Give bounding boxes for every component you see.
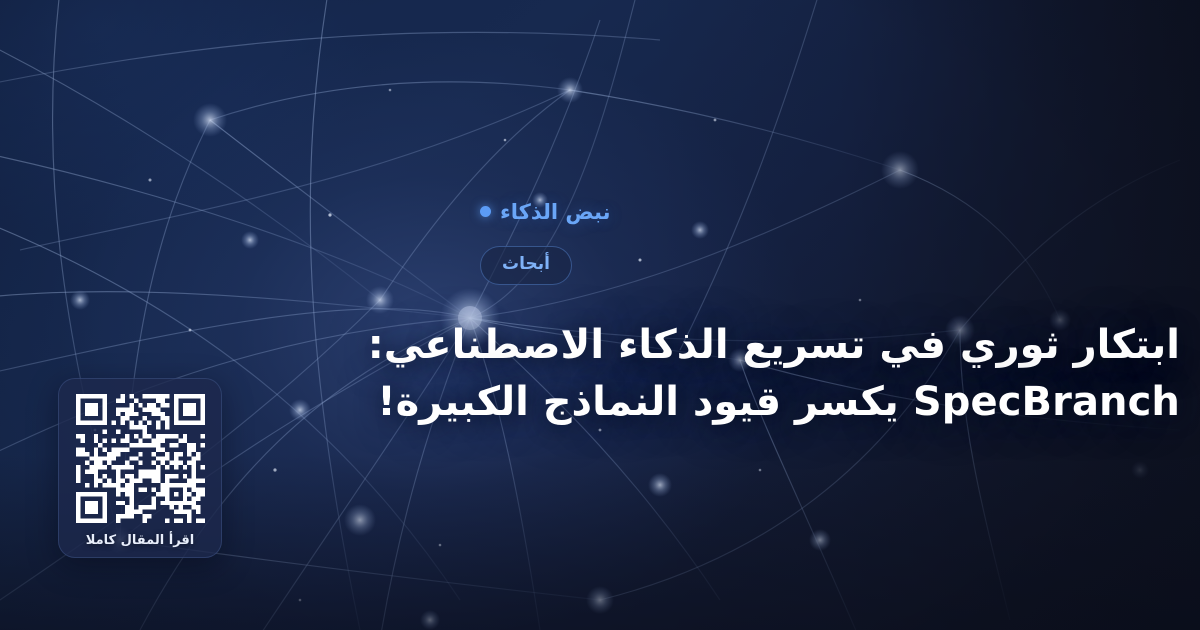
content-column: نبض الذكاء أبحاث ابتكار ثوري في تسريع ال… bbox=[480, 0, 1200, 630]
qr-caption: اقرأ المقال كاملا bbox=[86, 533, 195, 548]
brand-logo: نبض الذكاء bbox=[480, 200, 610, 224]
brand-dot-icon bbox=[480, 206, 491, 217]
headline-line-2: SpecBranch يكسر قيود النماذج الكبيرة! bbox=[480, 374, 1180, 431]
category-badge: أبحاث bbox=[480, 246, 572, 285]
qr-card[interactable]: اقرأ المقال كاملا bbox=[58, 378, 222, 558]
brand-name: نبض الذكاء bbox=[500, 200, 610, 224]
page-title: ابتكار ثوري في تسريع الذكاء الاصطناعي: S… bbox=[480, 317, 1180, 431]
social-share-card: نبض الذكاء أبحاث ابتكار ثوري في تسريع ال… bbox=[0, 0, 1200, 630]
qr-code-icon[interactable] bbox=[76, 394, 205, 523]
headline-line-1: ابتكار ثوري في تسريع الذكاء الاصطناعي: bbox=[480, 317, 1180, 374]
